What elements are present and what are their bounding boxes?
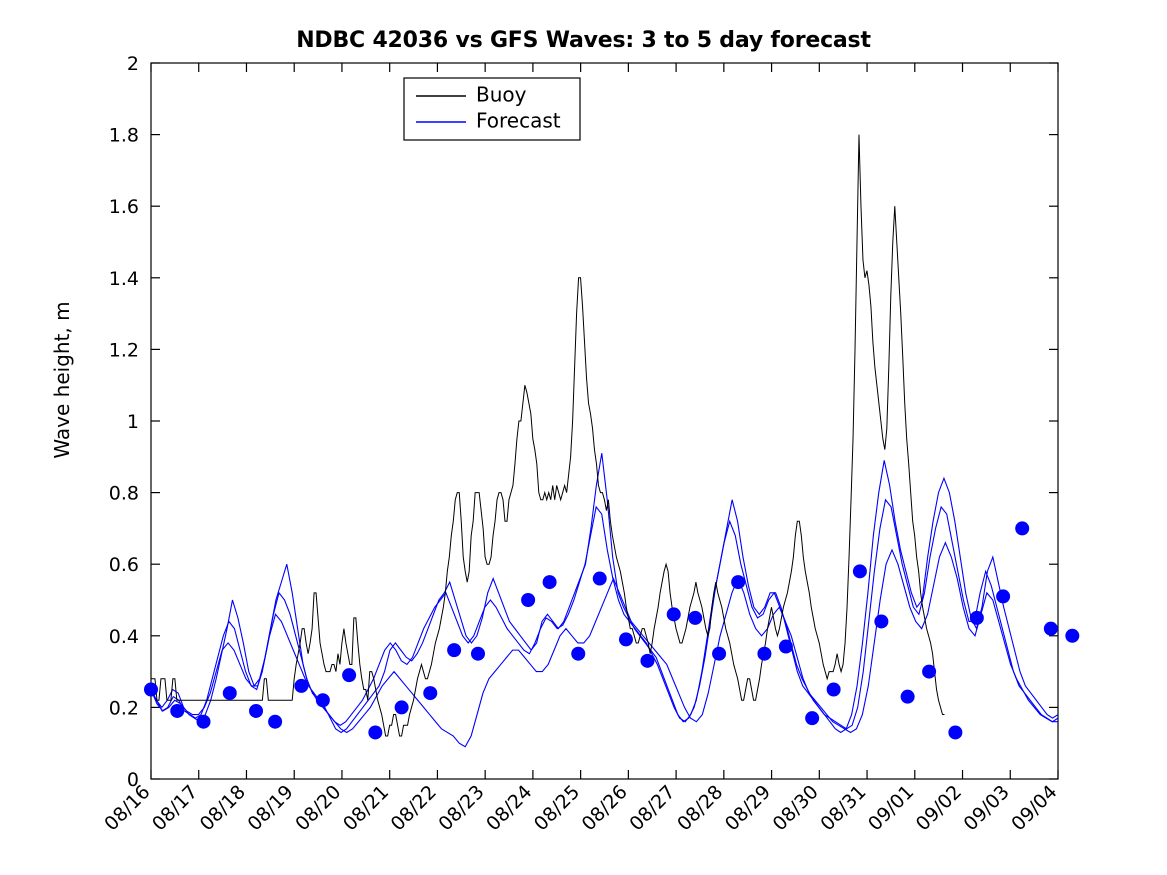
forecast-marker — [667, 607, 681, 621]
x-tick-label: 08/25 — [530, 781, 584, 835]
y-tick-label: 0.6 — [109, 554, 139, 576]
forecast-marker — [731, 575, 745, 589]
legend-label-buoy: Buoy — [476, 83, 527, 107]
forecast-marker — [170, 704, 184, 718]
forecast-marker — [521, 593, 535, 607]
forecast-marker — [342, 668, 356, 682]
y-tick-label: 1 — [127, 411, 139, 433]
forecast-marker — [779, 640, 793, 654]
y-tick-label: 2 — [127, 53, 139, 75]
x-tick-label: 08/29 — [721, 781, 775, 835]
forecast-marker — [874, 614, 888, 628]
forecast-marker — [423, 686, 437, 700]
forecast-marker — [922, 665, 936, 679]
x-tick-label: 08/20 — [291, 781, 345, 835]
x-tick-label: 08/28 — [673, 781, 727, 835]
forecast-marker — [901, 690, 915, 704]
forecast-marker — [543, 575, 557, 589]
x-tick-label: 08/18 — [196, 781, 250, 835]
forecast-marker — [249, 704, 263, 718]
forecast-marker — [757, 647, 771, 661]
forecast-marker — [571, 647, 585, 661]
x-tick-label: 08/17 — [148, 781, 202, 835]
x-tick-label: 08/22 — [387, 781, 441, 835]
y-tick-label: 1.6 — [109, 196, 139, 218]
forecast-marker — [970, 611, 984, 625]
y-tick-label: 1.8 — [109, 125, 139, 147]
forecast-marker — [223, 686, 237, 700]
x-tick-label: 08/19 — [243, 781, 297, 835]
x-tick-label: 09/04 — [1007, 781, 1061, 835]
x-tick-label: 08/21 — [339, 781, 393, 835]
x-tick-label: 08/30 — [769, 781, 823, 835]
chart-page: NDBC 42036 vs GFS Waves: 3 to 5 day fore… — [0, 0, 1167, 875]
forecast-marker — [827, 683, 841, 697]
x-tick-label: 08/26 — [578, 781, 632, 835]
forecast-marker — [640, 654, 654, 668]
forecast-marker — [1015, 521, 1029, 535]
forecast-marker — [316, 693, 330, 707]
plot-frame — [151, 63, 1058, 779]
x-tick-label: 08/31 — [816, 781, 870, 835]
forecast-marker — [996, 589, 1010, 603]
y-tick-label: 0.2 — [109, 697, 139, 719]
forecast-marker — [619, 632, 633, 646]
x-tick-label: 08/27 — [625, 781, 679, 835]
forecast-marker — [1065, 629, 1079, 643]
forecast-marker — [447, 643, 461, 657]
forecast-marker — [368, 725, 382, 739]
forecast-marker — [593, 572, 607, 586]
forecast-marker — [712, 647, 726, 661]
y-tick-label: 1.4 — [109, 268, 139, 290]
forecast-marker — [197, 715, 211, 729]
x-tick-label: 09/01 — [864, 781, 918, 835]
forecast-marker — [294, 679, 308, 693]
forecast-marker — [948, 725, 962, 739]
forecast-marker — [1044, 622, 1058, 636]
legend-label-forecast: Forecast — [476, 109, 561, 133]
x-tick-label: 08/24 — [482, 781, 536, 835]
plot-area: 00.20.40.60.811.21.41.61.8208/1608/1708/… — [0, 0, 1167, 875]
forecast-marker — [268, 715, 282, 729]
forecast-marker — [144, 683, 158, 697]
forecast-marker — [395, 700, 409, 714]
forecast-marker — [471, 647, 485, 661]
x-tick-label: 08/23 — [434, 781, 488, 835]
forecast-marker — [853, 564, 867, 578]
forecast-marker — [805, 711, 819, 725]
x-tick-label: 09/02 — [912, 781, 966, 835]
y-tick-label: 0.4 — [109, 626, 139, 648]
y-tick-label: 0.8 — [109, 483, 139, 505]
x-tick-label: 09/03 — [960, 781, 1014, 835]
forecast-marker — [688, 611, 702, 625]
y-tick-label: 1.2 — [109, 339, 139, 361]
